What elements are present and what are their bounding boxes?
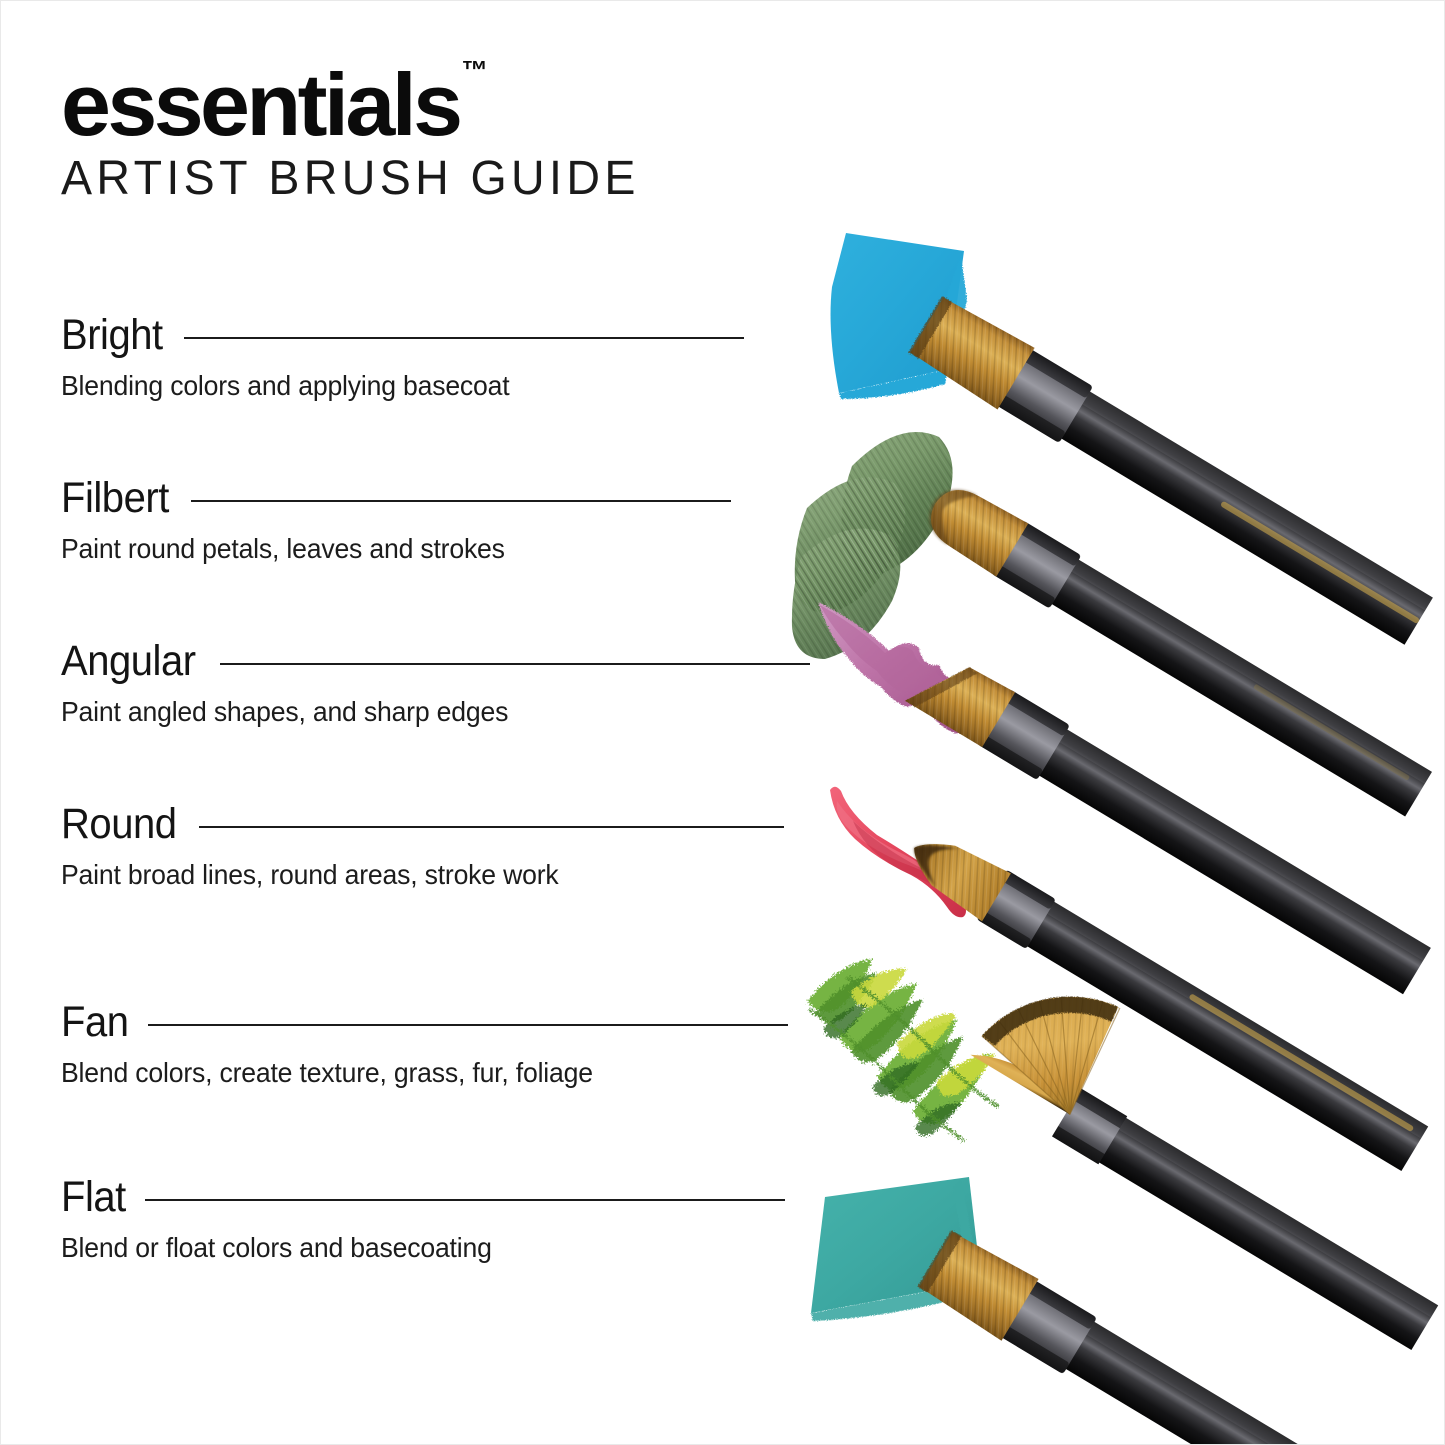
row-rule bbox=[184, 337, 744, 339]
brush-row-bright: Bright Blending colors and applying base… bbox=[61, 311, 744, 402]
brush-desc-round: Paint broad lines, round areas, stroke w… bbox=[61, 859, 748, 891]
brush-title-angular: Angular bbox=[61, 637, 196, 686]
fan-brush-art bbox=[954, 953, 1445, 1352]
angular-swatch-art bbox=[818, 602, 979, 734]
brand-wordmark: essentials™ bbox=[61, 63, 486, 147]
bright-brush-art bbox=[907, 293, 1438, 651]
row-rule bbox=[145, 1199, 785, 1201]
row-rule bbox=[148, 1024, 788, 1026]
brush-title-round: Round bbox=[61, 800, 177, 849]
brush-desc-bright: Blending colors and applying basecoat bbox=[61, 370, 710, 402]
brush-title-fan: Fan bbox=[61, 998, 129, 1047]
round-brush-art bbox=[899, 823, 1429, 1173]
brush-desc-filbert: Paint round petals, leaves and strokes bbox=[61, 533, 697, 565]
filbert-swatch-art bbox=[792, 432, 953, 659]
brush-desc-flat: Blend or float colors and basecoating bbox=[61, 1232, 749, 1264]
round-swatch-art bbox=[830, 787, 966, 918]
handle-imprint-bright bbox=[1220, 501, 1420, 625]
row-rule bbox=[220, 663, 810, 665]
brand-text: essentials bbox=[61, 55, 459, 154]
row-head: Fan bbox=[61, 998, 788, 1047]
filbert-brush-art bbox=[917, 476, 1434, 821]
brush-row-round: Round Paint broad lines, round areas, st… bbox=[61, 800, 784, 891]
bright-swatch-art bbox=[831, 233, 967, 399]
fan-swatch-art bbox=[807, 959, 999, 1141]
row-rule bbox=[191, 500, 731, 502]
brush-row-angular: Angular Paint angled shapes, and sharp e… bbox=[61, 637, 810, 728]
row-head: Bright bbox=[61, 311, 744, 360]
brush-row-fan: Fan Blend colors, create texture, grass,… bbox=[61, 998, 788, 1089]
flat-brush-art bbox=[916, 1228, 1438, 1445]
brush-title-bright: Bright bbox=[61, 311, 163, 360]
flat-swatch-art bbox=[811, 1177, 981, 1321]
row-rule bbox=[199, 826, 784, 828]
row-head: Angular bbox=[61, 637, 810, 686]
brush-desc-fan: Blend colors, create texture, grass, fur… bbox=[61, 1057, 751, 1089]
poster-subtitle: ARTIST BRUSH GUIDE bbox=[61, 151, 798, 206]
handle-imprint-angular bbox=[1253, 684, 1410, 781]
brush-title-filbert: Filbert bbox=[61, 474, 169, 523]
brush-title-flat: Flat bbox=[61, 1173, 126, 1222]
trademark-symbol: ™ bbox=[461, 55, 488, 85]
brush-row-flat: Flat Blend or float colors and basecoati… bbox=[61, 1173, 785, 1264]
brush-row-filbert: Filbert Paint round petals, leaves and s… bbox=[61, 474, 731, 565]
row-head: Filbert bbox=[61, 474, 731, 523]
poster-header: essentials™ ARTIST BRUSH GUIDE bbox=[61, 63, 821, 206]
row-head: Flat bbox=[61, 1173, 785, 1222]
brush-guide-poster: essentials™ ARTIST BRUSH GUIDE Bright Bl… bbox=[0, 0, 1445, 1445]
handle-imprint-round bbox=[1188, 993, 1414, 1132]
row-head: Round bbox=[61, 800, 784, 849]
brush-desc-angular: Paint angled shapes, and sharp edges bbox=[61, 696, 772, 728]
angular-brush-art bbox=[905, 646, 1433, 999]
